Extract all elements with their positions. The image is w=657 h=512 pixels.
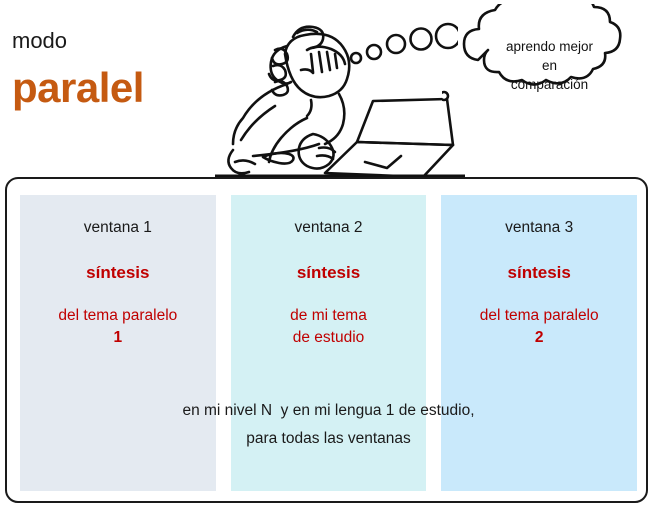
window-column-3[interactable]: ventana 3 síntesis del tema paralelo 2 — [441, 195, 637, 491]
windows-panel: ventana 1 síntesis del tema paralelo 1 v… — [5, 177, 648, 503]
window-3-description-line-2: 2 — [441, 327, 637, 349]
thought-bubble-line-1: aprendo mejor — [442, 37, 657, 56]
window-1-description-line-2: 1 — [20, 327, 216, 349]
window-1-description: del tema paralelo 1 — [20, 305, 216, 349]
header-area: modo paralel — [0, 0, 657, 176]
window-1-label: ventana 1 — [20, 219, 216, 238]
window-2-heading: síntesis — [231, 263, 427, 283]
windows-columns-row: ventana 1 síntesis del tema paralelo 1 v… — [20, 195, 637, 491]
window-2-description-line-1: de mi tema — [231, 305, 427, 327]
window-2-description-line-2: de estudio — [231, 327, 427, 349]
thought-bubble-line-3: comparación — [442, 75, 657, 94]
thought-bubble-tail-dots-icon — [348, 14, 458, 66]
page-title-modo: modo — [12, 30, 67, 52]
window-3-label: ventana 3 — [441, 219, 637, 238]
thought-bubble-line-2: en — [442, 56, 657, 75]
window-column-1[interactable]: ventana 1 síntesis del tema paralelo 1 — [20, 195, 216, 491]
window-3-description-line-1: del tema paralelo — [441, 305, 637, 327]
window-1-description-line-1: del tema paralelo — [20, 305, 216, 327]
window-3-description: del tema paralelo 2 — [441, 305, 637, 349]
window-1-heading: síntesis — [20, 263, 216, 283]
window-2-label: ventana 2 — [231, 219, 427, 238]
page-title-paralel: paralel — [12, 66, 144, 110]
window-3-heading: síntesis — [441, 263, 637, 283]
thought-bubble-icon: aprendo mejor en comparación — [442, 4, 657, 136]
window-column-2[interactable]: ventana 2 síntesis de mi tema de estudio — [231, 195, 427, 491]
window-2-description: de mi tema de estudio — [231, 305, 427, 349]
